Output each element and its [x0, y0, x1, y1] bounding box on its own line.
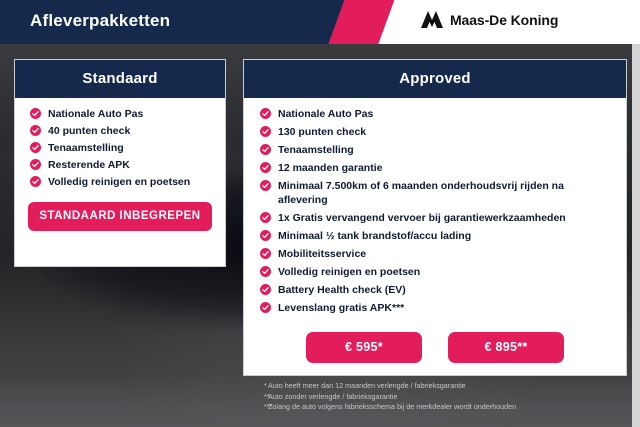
feature-label: Tenaamstelling	[48, 141, 124, 155]
feature-label: Tenaamstelling	[278, 143, 354, 157]
price-button-row: € 595* € 895**	[244, 319, 626, 363]
brand-logo: Maas-De Koning	[420, 9, 558, 30]
feature-label: Minimaal 7.500km of 6 maanden onderhouds…	[278, 179, 616, 207]
footnote-text: Auto zonder verlengde / fabrieksgarantie	[268, 392, 627, 403]
check-circle-icon	[260, 266, 271, 277]
footnote-text: Zolang de auto volgens fabrieksschema bi…	[268, 402, 627, 413]
page-header: Afleverpakketten Maas-De Koning	[0, 0, 640, 44]
list-item: Mobiliteitsservice	[244, 247, 626, 261]
list-item: Nationale Auto Pas	[244, 107, 626, 121]
feature-label: Volledig reinigen en poetsen	[278, 265, 420, 279]
list-item: Minimaal ½ tank brandstof/accu lading	[244, 229, 626, 243]
check-circle-icon	[260, 212, 271, 223]
check-circle-icon	[30, 159, 41, 170]
standaard-card-heading: Standaard	[15, 60, 225, 98]
standaard-card: Standaard Nationale Auto Pas 40 punten c…	[14, 59, 226, 267]
footnote-item: *** Zolang de auto volgens fabrieksschem…	[243, 402, 627, 413]
list-item: 40 punten check	[15, 124, 225, 138]
approved-card-body: Nationale Auto Pas 130 punten check Tena…	[244, 98, 626, 363]
standaard-feature-list: Nationale Auto Pas 40 punten check Tenaa…	[15, 107, 225, 189]
list-item: Tenaamstelling	[15, 141, 225, 155]
footnotes-block: * Auto heeft meer dan 12 maanden verleng…	[243, 381, 627, 413]
standaard-card-body: Nationale Auto Pas 40 punten check Tenaa…	[15, 98, 225, 231]
feature-label: 12 maanden garantie	[278, 161, 382, 175]
standaard-button-wrap: STANDAARD INBEGREPEN	[15, 192, 225, 231]
feature-label: Nationale Auto Pas	[48, 107, 143, 121]
footnote-item: ** Auto zonder verlengde / fabrieksgaran…	[243, 392, 627, 403]
feature-label: Minimaal ½ tank brandstof/accu lading	[278, 229, 471, 243]
list-item: Minimaal 7.500km of 6 maanden onderhouds…	[244, 179, 626, 207]
approved-card: Approved Nationale Auto Pas 130 punten c…	[243, 59, 627, 376]
check-circle-icon	[260, 180, 271, 191]
price-button-595[interactable]: € 595*	[306, 332, 422, 363]
footnote-marker: *	[243, 381, 268, 392]
list-item: 1x Gratis vervangend vervoer bij garanti…	[244, 211, 626, 225]
check-circle-icon	[260, 230, 271, 241]
check-circle-icon	[260, 108, 271, 119]
check-circle-icon	[260, 162, 271, 173]
list-item: Levenslang gratis APK***	[244, 301, 626, 315]
screen-root: Afleverpakketten Maas-De Koning Standaar…	[0, 0, 640, 427]
feature-label: Battery Health check (EV)	[278, 283, 406, 297]
footnote-item: * Auto heeft meer dan 12 maanden verleng…	[243, 381, 627, 392]
check-circle-icon	[30, 176, 41, 187]
feature-label: Nationale Auto Pas	[278, 107, 373, 121]
check-circle-icon	[260, 284, 271, 295]
list-item: Resterende APK	[15, 158, 225, 172]
feature-label: 1x Gratis vervangend vervoer bij garanti…	[278, 211, 566, 225]
standaard-inbegrepen-button[interactable]: STANDAARD INBEGREPEN	[28, 202, 212, 231]
maas-de-koning-logo-icon	[420, 9, 443, 30]
feature-label: Levenslang gratis APK***	[278, 301, 404, 315]
check-circle-icon	[30, 125, 41, 136]
list-item: Nationale Auto Pas	[15, 107, 225, 121]
list-item: 130 punten check	[244, 125, 626, 139]
brand-name: Maas-De Koning	[450, 12, 558, 28]
check-circle-icon	[30, 142, 41, 153]
check-circle-icon	[30, 108, 41, 119]
list-item: Volledig reinigen en poetsen	[244, 265, 626, 279]
approved-feature-list: Nationale Auto Pas 130 punten check Tena…	[244, 107, 626, 315]
list-item: Tenaamstelling	[244, 143, 626, 157]
feature-label: Resterende APK	[48, 158, 130, 172]
footnote-marker: ***	[243, 402, 268, 413]
feature-label: Volledig reinigen en poetsen	[48, 175, 190, 189]
check-circle-icon	[260, 126, 271, 137]
footnote-text: Auto heeft meer dan 12 maanden verlengde…	[268, 381, 627, 392]
footnote-marker: **	[243, 392, 268, 403]
background-right-edge	[632, 44, 640, 427]
list-item: 12 maanden garantie	[244, 161, 626, 175]
approved-card-heading: Approved	[244, 60, 626, 98]
page-title: Afleverpakketten	[30, 11, 170, 31]
feature-label: 40 punten check	[48, 124, 130, 138]
price-button-895[interactable]: € 895**	[448, 332, 564, 363]
check-circle-icon	[260, 302, 271, 313]
feature-label: Mobiliteitsservice	[278, 247, 366, 261]
list-item: Battery Health check (EV)	[244, 283, 626, 297]
check-circle-icon	[260, 144, 271, 155]
feature-label: 130 punten check	[278, 125, 366, 139]
list-item: Volledig reinigen en poetsen	[15, 175, 225, 189]
check-circle-icon	[260, 248, 271, 259]
